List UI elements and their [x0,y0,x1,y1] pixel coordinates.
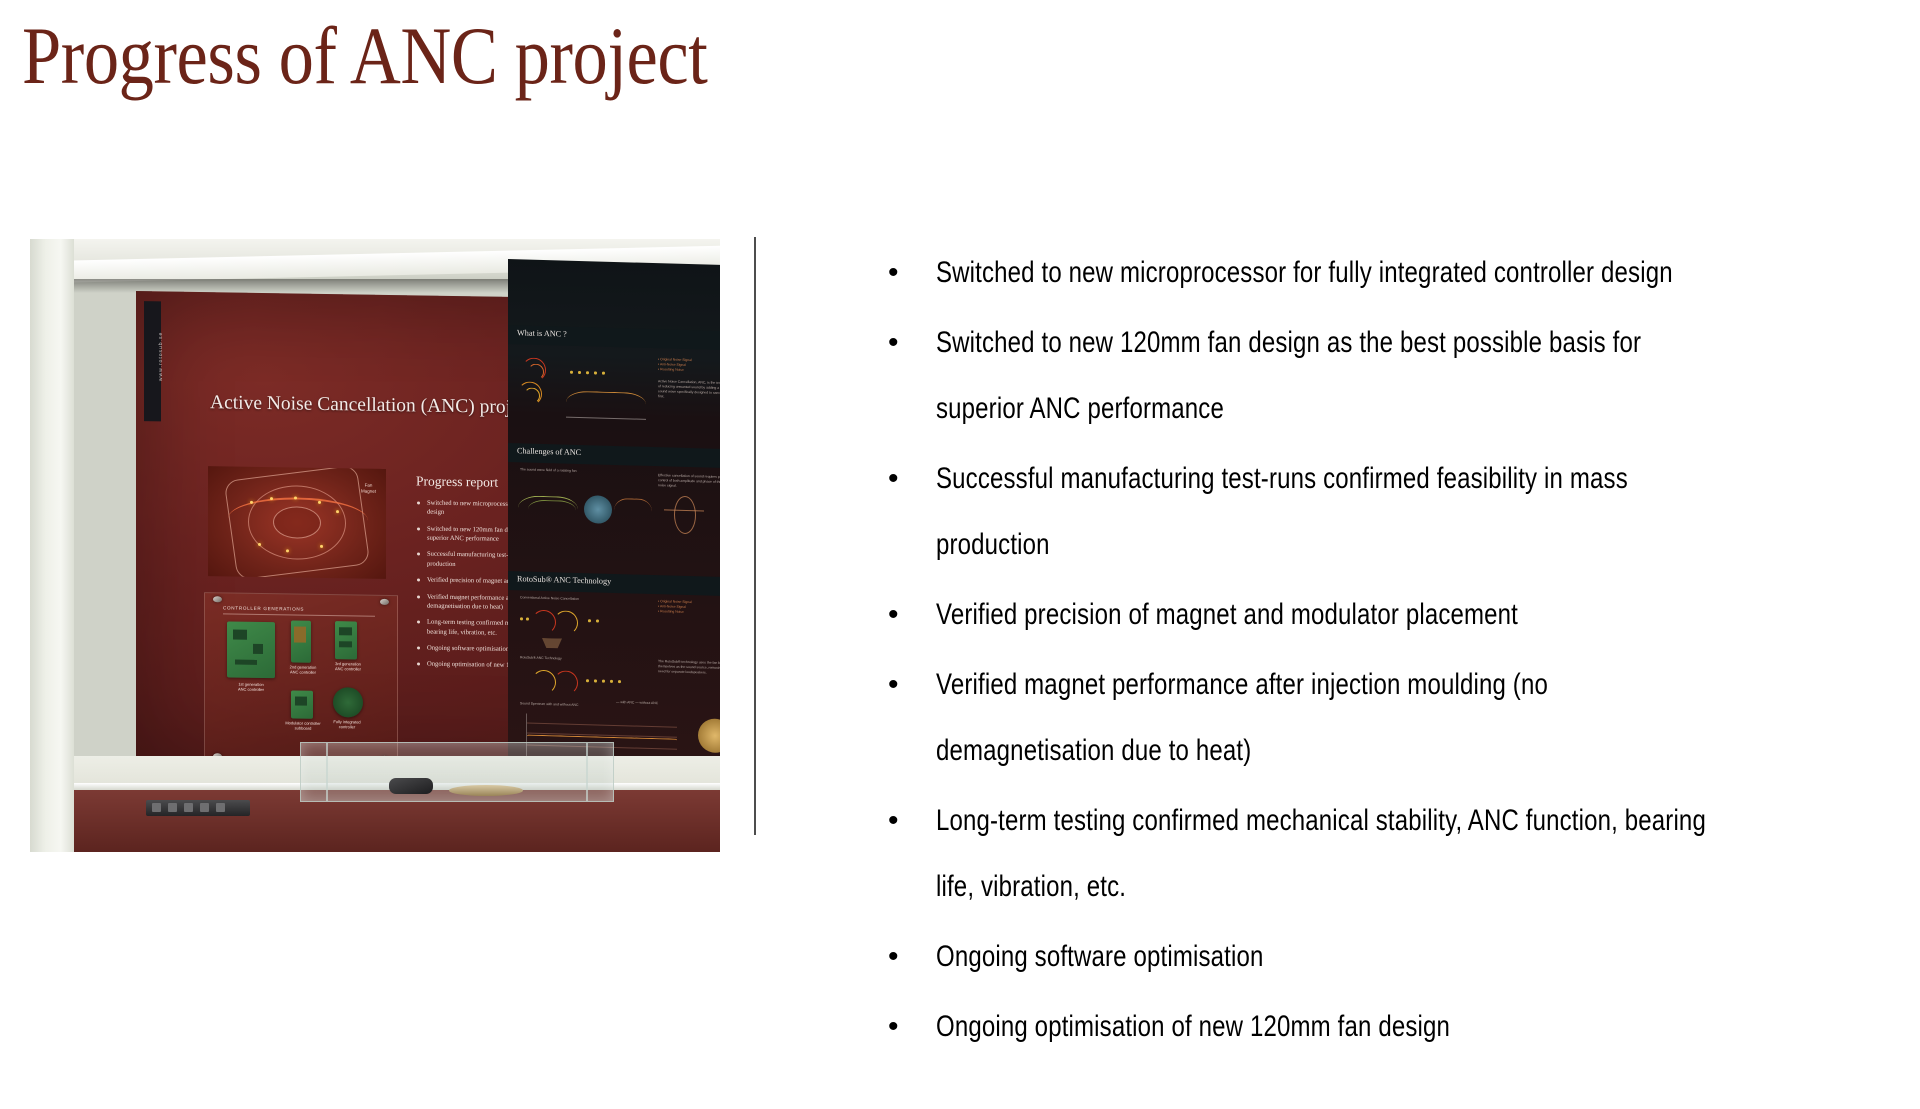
pcb-caption: 2nd generationANC controller [285,664,321,675]
bullet-marker: • [880,652,936,718]
panel-paragraph: Active Noise Cancellation, ANC, is the t… [658,379,720,401]
bullet-marker: • [880,924,936,990]
led-dot [610,680,613,683]
sound-wave-icon [532,610,556,635]
display-object-fan [389,778,433,794]
poster-spine: www.rotosub.se [144,301,161,421]
bullet-list: • Switched to new microprocessor for ful… [880,240,1910,1064]
list-item: • Verified magnet performance after inje… [880,652,1910,784]
led-dot [594,371,597,374]
panel-section-band: What is ANC ? [508,325,720,350]
panel-section-title: Challenges of ANC [517,446,581,457]
led-dot [570,371,573,374]
bullet-text: Successful manufacturing test-runs confi… [936,446,1715,578]
pcb-board [227,621,275,678]
panel-section-band: Challenges of ANC [508,443,720,468]
bullet-marker: • [880,994,936,1060]
bullet-marker: • [880,446,936,512]
bullet-text: Switched to new 120mm fan design as the … [936,310,1715,442]
fan-caption: FanMagnet [361,483,376,496]
page-title: Progress of ANC project [22,12,1054,101]
bullet-text: Ongoing software optimisation [936,924,1715,990]
bullet-marker: • [880,310,936,376]
led-dot [526,618,529,621]
fan-led [286,549,289,552]
list-item: • Verified precision of magnet and modul… [880,582,1910,648]
bullet-text: Verified magnet performance after inject… [936,652,1715,784]
speaker-icon [542,638,562,649]
pcb-board [291,690,313,718]
panel-bullet-list: • Original Noise Signal• Anti-Noise Sign… [658,357,720,374]
waveform-plot [566,387,646,420]
plot-legend: — with ANC — without ANC [616,700,658,706]
pcb-caption: Modulator controllersubboard [283,720,323,731]
fan-illustration: FanMagnet [208,466,386,579]
panel-screw [380,599,389,605]
panel-bullet-list: • Original Noise Signal• Anti-Noise Sign… [658,599,720,616]
fan-led [320,545,323,548]
bullet-text: Ongoing optimisation of new 120mm fan de… [936,994,1715,1060]
fan-led [250,501,253,504]
pcb-caption: 1st generationANC controller [223,681,279,692]
sound-wave-icon [528,364,544,380]
list-item: • Switched to new microprocessor for ful… [880,240,1910,306]
component-tray [146,800,250,816]
bullet-marker: • [880,240,936,306]
panel-section-title: RotoSub® ANC Technology [517,574,611,586]
anc-technical-panel: What is ANC ? • Original Noise Signal• [508,259,720,785]
magnet-field-diagram [664,493,704,534]
bullet-text: Switched to new microprocessor for fully… [936,240,1715,306]
vertical-divider [754,237,756,835]
list-item: • Long-term testing confirmed mechanical… [880,788,1910,920]
panel-caption: RotoSub® ANC Technology [520,655,610,662]
integrated-controller-disc [333,687,363,717]
fan-led [318,501,321,504]
bullet-marker: • [880,582,936,648]
fan-led [294,496,297,499]
sound-wave-icon [532,670,556,695]
poster-heading: Active Noise Cancellation (ANC) project [210,390,540,421]
fan-led [336,510,339,513]
slide-canvas: Progress of ANC project www.rotosub.se A… [0,0,1920,1109]
fan-led [258,543,261,546]
pcb-board [335,621,357,659]
photo-inner: www.rotosub.se Active Noise Cancellation… [30,239,720,852]
fan-photo-thumb [698,718,720,753]
pcb-board [291,620,311,662]
led-dot [618,680,621,683]
sound-wave-icon [554,610,578,635]
list-item: • Ongoing optimisation of new 120mm fan … [880,994,1910,1060]
panel-section-challenges: The sound wave field of a rotating fan E… [508,465,720,567]
pcb-caption: 3rd generationANC controller [329,661,367,672]
panel-caption: The sound wave field of a rotating fan [520,467,610,474]
list-item: • Successful manufacturing test-runs con… [880,446,1910,578]
bullet-marker: • [880,788,936,854]
pcb-caption: Fully integratedcontroller [325,719,369,730]
wall-left [30,239,74,852]
display-object-ring [449,785,523,796]
poster-spine-text: www.rotosub.se [158,301,164,411]
exhibition-display-photo: www.rotosub.se Active Noise Cancellation… [30,239,720,852]
panel-caption: Conventional Active Noise Cancellation [520,595,600,602]
led-dot [596,619,599,622]
panel-caption: Sound Spectrum with and without ANC [520,701,600,708]
bullet-text: Verified precision of magnet and modulat… [936,582,1715,648]
led-dot [586,371,589,374]
panel-paragraph: The RotoSub® technology uses the fan bla… [658,659,720,676]
panel-section-what-is-anc: • Original Noise Signal• Anti-Noise Sign… [508,347,720,439]
led-dot [602,680,605,683]
led-dot [594,679,597,682]
sound-wave-icon [554,670,578,695]
led-dot [586,679,589,682]
led-dot [602,372,605,375]
panel-screw [213,596,222,602]
panel-section-title: What is ANC ? [517,328,567,338]
list-item: • Switched to new 120mm fan design as th… [880,310,1910,442]
glass-display-case [300,742,614,802]
led-dot [520,617,523,620]
fan-led [270,497,273,500]
panel-paragraph: Effective cancellation of sound requires… [658,473,720,490]
list-item: • Ongoing software optimisation [880,924,1910,990]
interference-diagram [518,487,648,531]
led-dot [588,619,591,622]
bullet-text: Long-term testing confirmed mechanical s… [936,788,1715,920]
sound-wave-icon [524,387,540,403]
panel-section-band: RotoSub® ANC Technology [508,571,720,596]
pcb-panel-heading: CONTROLLER GENERATIONS [223,605,375,616]
led-dot [578,371,581,374]
